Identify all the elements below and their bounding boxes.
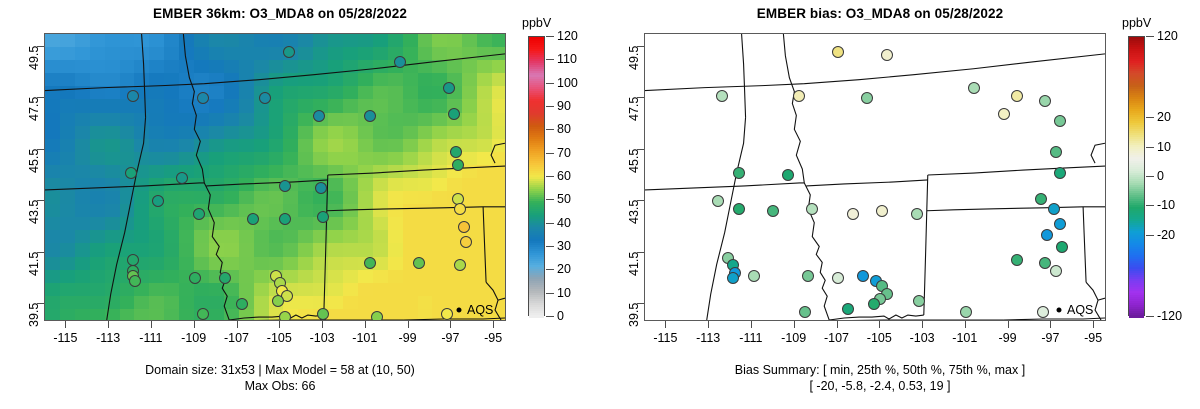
x-tick <box>151 321 152 328</box>
x-tick-label: -99 <box>999 331 1017 345</box>
caption-bias-line2: [ -20, -5.8, -2.4, 0.53, 19 ] <box>600 379 1160 394</box>
y-tick-label: 45.5 <box>627 149 641 173</box>
panel-bias: EMBER bias: O3_MDA8 on 05/28/2022 <box>600 0 1200 409</box>
x-tick <box>1093 321 1094 328</box>
x-tick-label: -99 <box>399 331 417 345</box>
caption-model-line2: Max Obs: 66 <box>0 379 560 394</box>
x-tick <box>708 321 709 328</box>
y-tick-label: 49.5 <box>27 46 41 70</box>
x-tick <box>751 321 752 328</box>
y-tick-label: 41.5 <box>627 252 641 276</box>
x-tick-label: -107 <box>824 331 849 345</box>
colorbar-tick <box>1146 316 1154 317</box>
colorbar-tick-label: 120 <box>557 29 578 43</box>
x-tick-label: -113 <box>696 331 720 345</box>
y-tick-label: 39.5 <box>627 303 641 327</box>
y-tick-label: 43.5 <box>27 200 41 224</box>
x-tick <box>965 321 966 328</box>
colorbar-tick-label: 0 <box>1157 169 1164 183</box>
colorbar-tick <box>546 293 554 294</box>
x-tick-label: -109 <box>781 331 806 345</box>
colorbar-tick <box>546 36 554 37</box>
colorbar-tick-label: 0 <box>557 309 564 323</box>
x-tick-label: -111 <box>139 331 162 345</box>
x-tick <box>237 321 238 328</box>
x-tick-label: -103 <box>910 331 935 345</box>
colorbar-tick <box>546 246 554 247</box>
x-tick <box>450 321 451 328</box>
y-tick-label: 41.5 <box>27 252 41 276</box>
colorbar-tick-label: 30 <box>557 239 571 253</box>
x-tick-label: -105 <box>267 331 292 345</box>
x-tick <box>837 321 838 328</box>
colorbar-tick <box>546 316 554 317</box>
x-tick-label: -101 <box>952 331 977 345</box>
colorbar-tick-label: 120 <box>1157 29 1178 43</box>
colorbar-tick-label: -20 <box>1157 228 1175 242</box>
x-tick <box>1008 321 1009 328</box>
caption-model-line1: Domain size: 31x53 | Max Model = 58 at (… <box>0 363 560 378</box>
y-tick-label: 49.5 <box>627 46 641 70</box>
axes-model: 39.541.543.545.547.549.5-115-113-111-109… <box>0 0 560 360</box>
x-tick <box>493 321 494 328</box>
colorbar-tick <box>546 153 554 154</box>
colorbar-tick <box>546 129 554 130</box>
colorbar-tick-label: 90 <box>557 99 571 113</box>
y-tick-label: 43.5 <box>627 200 641 224</box>
x-tick <box>665 321 666 328</box>
colorbar-unit-label: ppbV <box>1122 16 1151 30</box>
colorbar-tick <box>1146 176 1154 177</box>
y-tick-label: 47.5 <box>627 97 641 121</box>
colorbar-unit-label: ppbV <box>522 16 551 30</box>
axes-bias: 39.541.543.545.547.549.5-115-113-111-109… <box>600 0 1160 360</box>
x-tick <box>922 321 923 328</box>
x-tick-label: -103 <box>310 331 335 345</box>
colorbar-tick-label: 10 <box>1157 140 1171 154</box>
colorbar-tick <box>546 83 554 84</box>
colorbar-tick <box>546 176 554 177</box>
caption-bias-line1: Bias Summary: [ min, 25th %, 50th %, 75t… <box>600 363 1160 378</box>
x-tick-label: -107 <box>224 331 249 345</box>
colorbar-tick-label: 60 <box>557 169 571 183</box>
x-tick-label: -115 <box>653 331 677 345</box>
colorbar-tick-label: -10 <box>1157 198 1175 212</box>
x-tick-label: -97 <box>1041 331 1059 345</box>
y-tick-label: 47.5 <box>27 97 41 121</box>
colorbar-tick-label: 40 <box>557 216 571 230</box>
x-tick <box>322 321 323 328</box>
colorbar-tick-label: 20 <box>1157 110 1171 124</box>
colorbar-tick-label: 10 <box>557 286 571 300</box>
y-tick-label: 39.5 <box>27 303 41 327</box>
x-tick <box>108 321 109 328</box>
x-tick <box>794 321 795 328</box>
x-tick-label: -113 <box>96 331 120 345</box>
colorbar-tick <box>546 59 554 60</box>
colorbar-tick <box>1146 117 1154 118</box>
colorbar-tick-label: 80 <box>557 122 571 136</box>
x-tick <box>408 321 409 328</box>
colorbar-tick-label: 20 <box>557 262 571 276</box>
colorbar-tick-label: -120 <box>1157 309 1182 323</box>
x-tick-label: -111 <box>739 331 762 345</box>
x-tick <box>65 321 66 328</box>
figure-root: EMBER 36km: O3_MDA8 on 05/28/2022 <box>0 0 1200 409</box>
colorbar-tick-label: 50 <box>557 192 571 206</box>
colorbar-tick <box>546 269 554 270</box>
colorbar-tick <box>546 223 554 224</box>
x-tick-label: -95 <box>484 331 502 345</box>
colorbar-tick <box>1146 147 1154 148</box>
x-tick-label: -97 <box>441 331 459 345</box>
colorbar-tick <box>1146 235 1154 236</box>
colorbar-tick-label: 70 <box>557 146 571 160</box>
colorbar-tick <box>1146 205 1154 206</box>
x-tick <box>879 321 880 328</box>
x-tick-label: -95 <box>1084 331 1102 345</box>
colorbar-tick <box>546 106 554 107</box>
x-tick-label: -115 <box>53 331 77 345</box>
colorbar-tick-label: 100 <box>557 76 578 90</box>
x-tick <box>365 321 366 328</box>
panel-model: EMBER 36km: O3_MDA8 on 05/28/2022 <box>0 0 600 409</box>
y-tick-label: 45.5 <box>27 149 41 173</box>
colorbar-gradient[interactable] <box>528 36 545 316</box>
colorbar-tick-label: 110 <box>557 52 577 66</box>
x-tick <box>194 321 195 328</box>
colorbar-tick <box>1146 36 1154 37</box>
colorbar-gradient[interactable] <box>1128 36 1145 316</box>
x-tick-label: -109 <box>181 331 206 345</box>
colorbar-tick <box>546 199 554 200</box>
x-tick <box>1050 321 1051 328</box>
x-tick-label: -101 <box>352 331 377 345</box>
x-tick-label: -105 <box>867 331 892 345</box>
x-tick <box>279 321 280 328</box>
